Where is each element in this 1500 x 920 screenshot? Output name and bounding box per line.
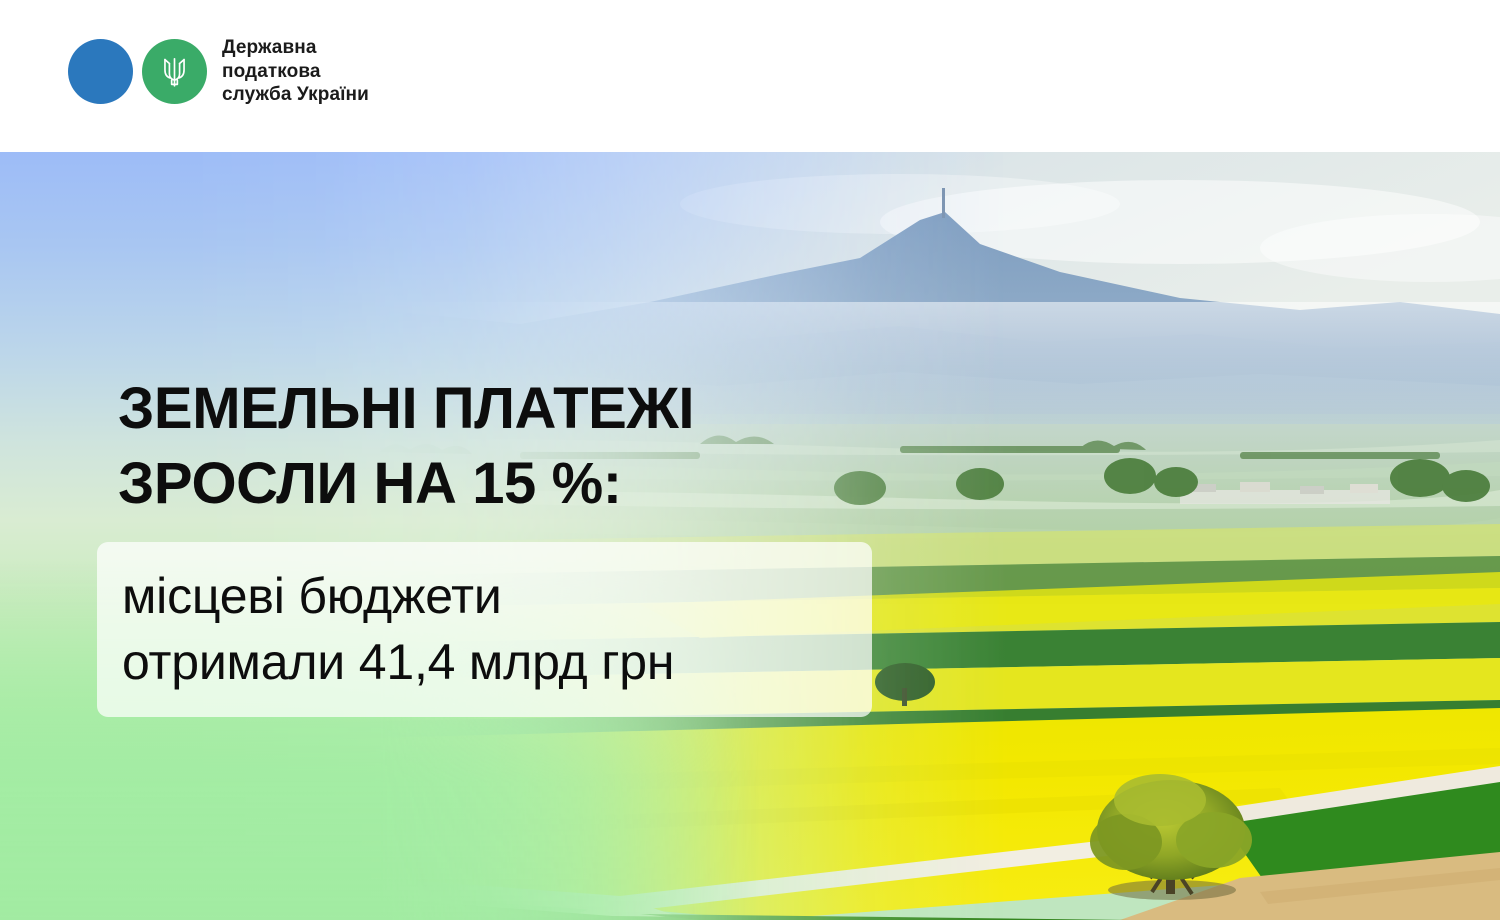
logo-text: Державна податкова служба України [222,36,369,107]
logo-marks [68,38,208,106]
page-title: ЗЕМЕЛЬНІ ПЛАТЕЖІ ЗРОСЛИ НА 15 %: [118,371,694,521]
banner: Державна податкова служба України ЗЕМЕЛЬ… [0,0,1500,920]
header-bar: Державна податкова служба України [0,0,1500,152]
background-photo [0,152,1500,920]
ukrainian-trident-icon [157,54,192,89]
tax-service-logo[interactable]: Державна податкова служба України [68,38,369,107]
blue-circle-icon [68,39,133,104]
landscape-illustration [0,152,1500,920]
page-subtitle: місцеві бюджети отримали 41,4 млрд грн [122,563,674,695]
